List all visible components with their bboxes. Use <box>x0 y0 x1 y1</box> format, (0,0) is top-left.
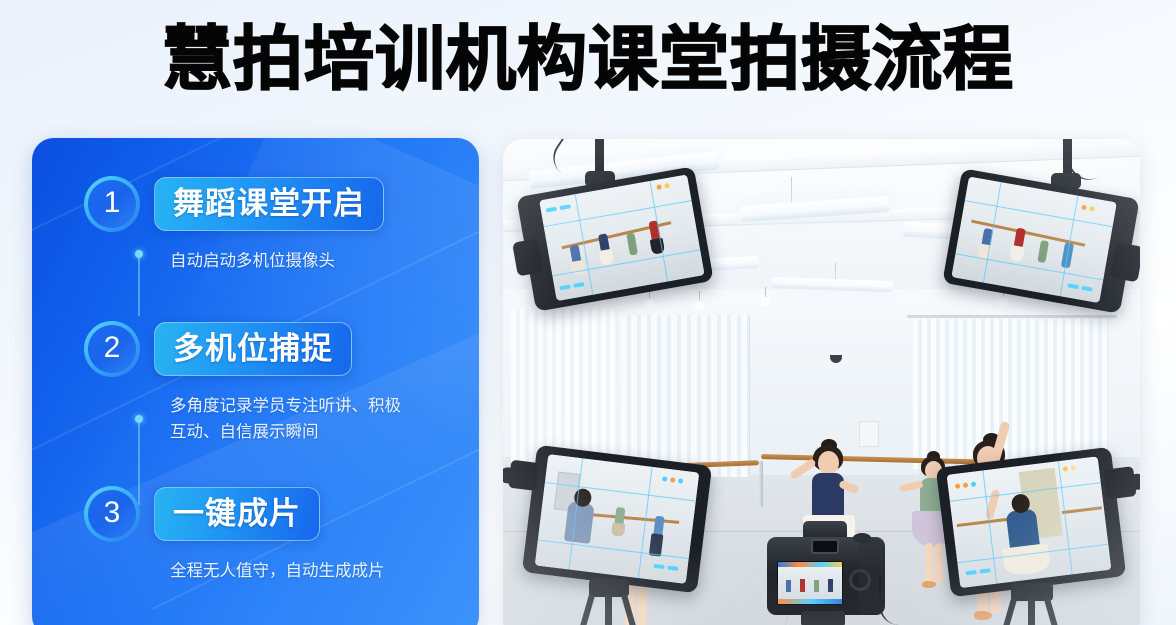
step-description: 多角度记录学员专注听讲、积极 互动、自信展示瞬间 <box>170 393 470 444</box>
step-description: 自动启动多机位摄像头 <box>170 248 470 274</box>
torso <box>812 473 844 521</box>
tripod-head-dslr <box>801 611 845 625</box>
step-title-pill[interactable]: 多机位捕捉 <box>154 322 352 376</box>
spot-stem <box>765 287 766 297</box>
monitor-screen <box>535 454 700 584</box>
screen-feed <box>539 175 704 301</box>
rec-indicator-dot <box>1081 205 1087 211</box>
status-dot <box>1089 206 1095 212</box>
step-number-badge: 1 <box>84 176 140 232</box>
screen-feed <box>951 177 1116 303</box>
track-spot-light <box>645 299 654 308</box>
step-title-label: 多机位捕捉 <box>173 334 333 365</box>
leg <box>925 543 933 585</box>
tripod-leg <box>605 595 612 625</box>
camera-lcd-screen[interactable] <box>777 561 843 605</box>
step-title-label: 舞蹈课堂开启 <box>173 189 365 220</box>
pendant-rod <box>791 177 792 203</box>
step-item-3[interactable]: 3 一键成片 全程无人值守，自动生成成片 <box>32 486 479 584</box>
monitor-screen <box>947 456 1112 588</box>
title-bar: 慧拍培训机构课堂拍摄流程 <box>0 0 1176 118</box>
monitor-side-mount <box>1110 242 1140 282</box>
feed-dancer-foreground <box>564 501 595 544</box>
ballet-shoe <box>974 611 992 620</box>
step-title-pill[interactable]: 一键成片 <box>154 487 320 541</box>
step-title-pill[interactable]: 舞蹈课堂开启 <box>154 177 384 231</box>
status-dot <box>678 478 684 484</box>
status-dot <box>664 183 670 189</box>
monitor-screen <box>539 175 704 301</box>
tripod-monitor-right[interactable] <box>936 447 1127 597</box>
steps-panel: 1 舞蹈课堂开启 自动启动多机位摄像头 2 多机位捕捉 多角度记录学员专注听讲、… <box>32 138 479 625</box>
step-description-line1: 全程无人值守，自动生成成片 <box>170 561 385 580</box>
step-item-1[interactable]: 1 舞蹈课堂开启 自动启动多机位摄像头 <box>32 176 479 274</box>
track-spot-light <box>761 297 770 306</box>
rec-indicator-dot <box>656 184 662 190</box>
step-header: 2 多机位捕捉 <box>32 321 479 377</box>
lcd-dancer <box>800 579 805 592</box>
dslr-camera[interactable] <box>767 521 885 615</box>
status-dot <box>1063 466 1069 472</box>
lcd-bottom-bar <box>778 599 842 604</box>
step-description-line1: 多角度记录学员专注听讲、积极 <box>170 396 401 415</box>
curtain-rail <box>907 315 1117 318</box>
monitor-side-mount <box>512 238 544 276</box>
step-header: 1 舞蹈课堂开启 <box>32 176 479 232</box>
spot-stem <box>699 291 700 301</box>
step-description-line1: 自动启动多机位摄像头 <box>170 251 335 270</box>
barre-post <box>759 461 763 509</box>
tripod-leg <box>1028 599 1035 625</box>
window-curtain <box>621 315 749 477</box>
page-title: 慧拍培训机构课堂拍摄流程 <box>162 24 1014 94</box>
step-number-label: 2 <box>104 333 121 365</box>
step-header: 3 一键成片 <box>32 486 479 542</box>
step-title-label: 一键成片 <box>173 499 301 530</box>
head <box>818 451 839 475</box>
status-dot <box>971 481 977 487</box>
barre-foot <box>748 507 774 514</box>
step-description: 全程无人值守，自动生成成片 <box>170 558 470 584</box>
lcd-dancer <box>828 579 833 592</box>
rec-indicator-dot <box>670 477 676 483</box>
ballet-shoe <box>922 581 936 588</box>
step-description-line2: 互动、自信展示瞬间 <box>170 419 470 445</box>
lcd-dancer <box>786 580 791 592</box>
step-number-badge: 2 <box>84 321 140 377</box>
track-spot-light <box>695 301 704 310</box>
track-spot-light <box>999 297 1008 306</box>
studio-photo <box>503 139 1140 625</box>
monitor-screen <box>951 177 1116 303</box>
tripod-monitor-left[interactable] <box>522 445 712 593</box>
step-item-2[interactable]: 2 多机位捕捉 多角度记录学员专注听讲、积极 互动、自信展示瞬间 <box>32 321 479 444</box>
status-dot <box>662 476 668 482</box>
step-number-label: 3 <box>104 498 121 530</box>
rec-indicator-dot <box>955 483 961 489</box>
status-dot <box>963 482 969 488</box>
step-number-badge: 3 <box>84 486 140 542</box>
camera-control-wheel[interactable] <box>849 569 871 591</box>
camera-viewfinder <box>811 539 839 554</box>
camera-mode-dial[interactable] <box>853 533 871 543</box>
step-number-label: 1 <box>104 188 121 220</box>
status-dot <box>1070 465 1076 471</box>
lcd-dancer <box>814 580 819 592</box>
leg <box>935 543 943 583</box>
